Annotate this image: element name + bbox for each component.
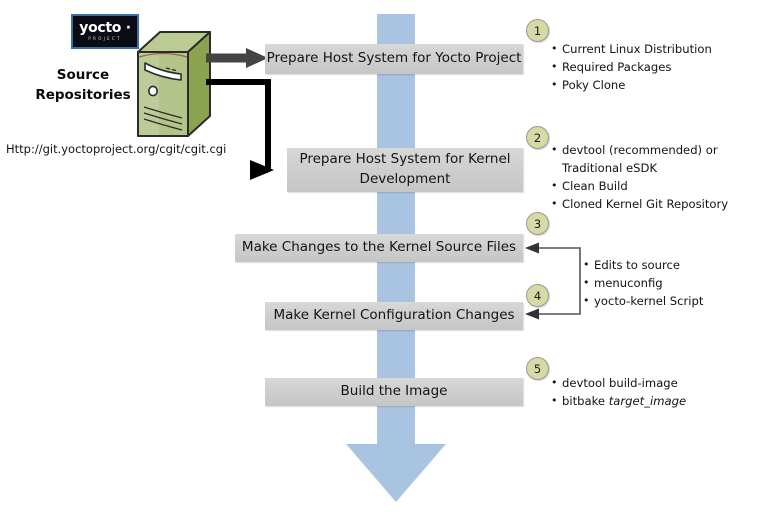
source-repositories-label-line1: Source xyxy=(24,66,142,86)
step-4-box[interactable]: Make Kernel Configuration Changes xyxy=(265,302,523,330)
step-1-bullet-list: Current Linux Distribution Required Pack… xyxy=(551,41,761,95)
step-5-bullet-1-text: devtool build-image xyxy=(562,376,678,390)
step-2-box-label-line1: Prepare Host System for Kernel xyxy=(299,150,510,170)
step-2-box[interactable]: Prepare Host System for Kernel Developme… xyxy=(287,148,523,192)
connector-server-to-step1 xyxy=(206,44,272,72)
list-item: Poky Clone xyxy=(551,77,761,95)
step-1-number-badge: 1 xyxy=(526,19,549,42)
step-5-bullet-2-text: bitbake xyxy=(562,394,609,408)
step-1-box-label: Prepare Host System for Yocto Project xyxy=(267,49,522,69)
list-item: Required Packages xyxy=(551,59,761,77)
step-1-number: 1 xyxy=(534,24,541,38)
connector-server-to-step2 xyxy=(206,76,278,182)
yocto-logo-subtitle: PROJECT xyxy=(88,37,122,41)
step-5-number: 5 xyxy=(534,362,541,376)
list-item: devtool build-image xyxy=(551,375,751,393)
step-5-number-badge: 5 xyxy=(526,357,549,380)
step-3-box-label: Make Changes to the Kernel Source Files xyxy=(242,238,516,258)
list-item: Current Linux Distribution xyxy=(551,41,761,59)
step-1-box[interactable]: Prepare Host System for Yocto Project xyxy=(265,44,523,74)
list-item: menuconfig xyxy=(583,275,758,293)
step-3-number-badge: 3 xyxy=(526,212,549,235)
source-repositories-label-line2: Repositories xyxy=(24,86,142,106)
source-repositories-url: Http://git.yoctoproject.org/cgit/cgit.cg… xyxy=(6,142,226,156)
main-flow-arrow-head xyxy=(346,444,446,502)
step-5-box[interactable]: Build the Image xyxy=(265,378,523,406)
step-2-bullet-list: devtool (recommended) or Traditional eSD… xyxy=(551,142,763,214)
step-3-number: 3 xyxy=(534,217,541,231)
list-item: bitbake target_image xyxy=(551,393,751,411)
step-2-box-label-line2: Development xyxy=(299,170,510,190)
step-2-number-badge: 2 xyxy=(526,126,549,149)
step-5-bullet-2-italic: target_image xyxy=(609,394,686,408)
yocto-logo-word: yocto · xyxy=(79,21,130,35)
step-5-box-label: Build the Image xyxy=(341,382,448,402)
step-3-box[interactable]: Make Changes to the Kernel Source Files xyxy=(235,234,523,262)
step-4-box-label: Make Kernel Configuration Changes xyxy=(273,306,514,326)
list-item-continuation: Traditional eSDK xyxy=(551,160,763,178)
list-item: Clean Build xyxy=(551,178,763,196)
step-5-bullet-list: devtool build-image bitbake target_image xyxy=(551,375,751,411)
step-2-number: 2 xyxy=(534,131,541,145)
server-tower-icon xyxy=(136,30,212,142)
list-item: yocto-kernel Script xyxy=(583,293,758,311)
list-item: devtool (recommended) or xyxy=(551,142,763,160)
diagram-canvas: yocto · PROJECT Source Repositories Http… xyxy=(0,0,769,517)
steps-3-4-shared-bullet-list: Edits to source menuconfig yocto-kernel … xyxy=(583,257,758,311)
list-item: Edits to source xyxy=(583,257,758,275)
list-item: Cloned Kernel Git Repository xyxy=(551,196,763,214)
yocto-project-logo: yocto · PROJECT xyxy=(71,14,139,49)
source-repositories-label: Source Repositories xyxy=(24,66,142,105)
connector-bracket-steps-3-4 xyxy=(523,241,587,321)
